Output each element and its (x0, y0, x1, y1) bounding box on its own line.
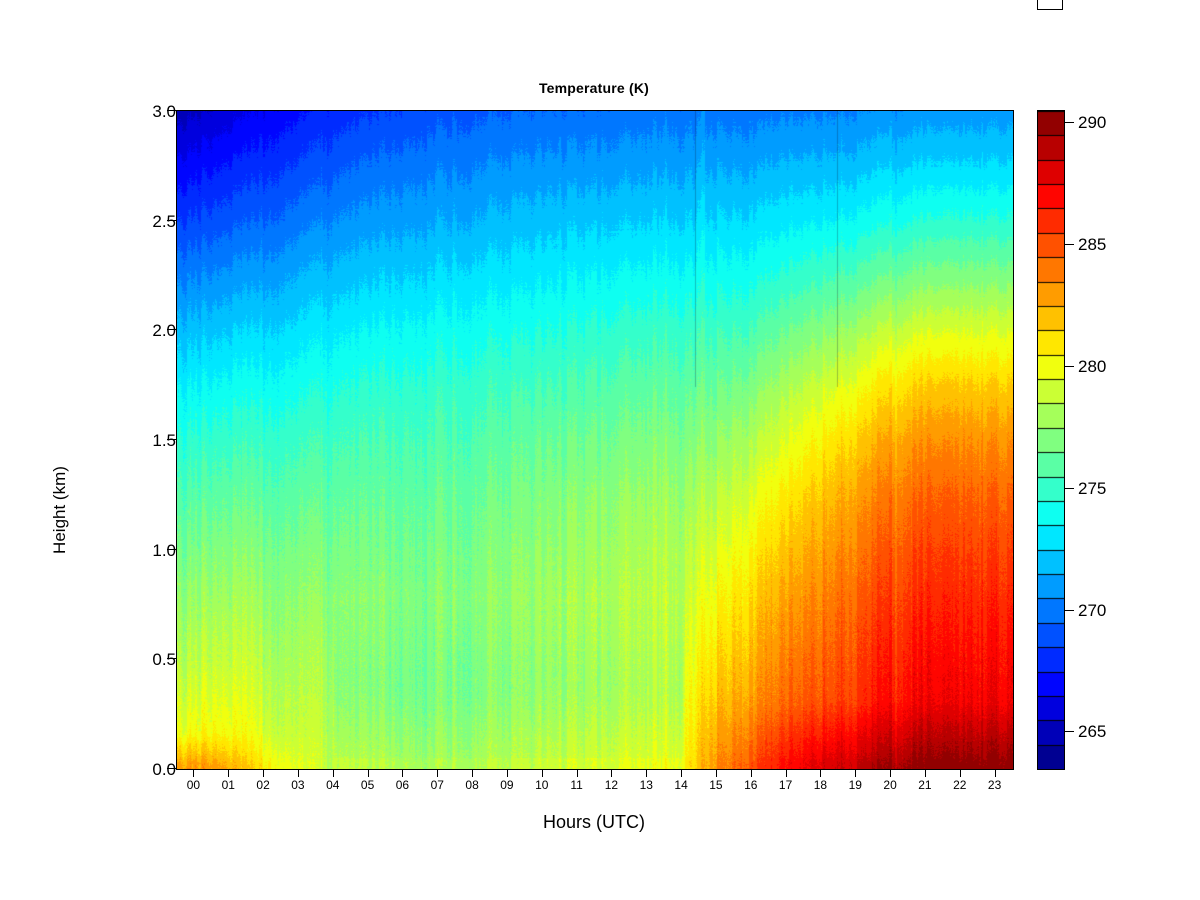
colorbar-tick-mark (1065, 366, 1074, 367)
colorbar-tick-label: 280 (1078, 357, 1148, 375)
y-tick-label: 3.0 (96, 102, 176, 118)
figure-corner-mark (1037, 0, 1063, 10)
colorbar-tick-label: 290 (1078, 113, 1148, 131)
x-tick-mark (925, 769, 926, 777)
y-tick-label: 2.5 (96, 212, 176, 228)
y-tick-mark (167, 329, 176, 330)
x-tick-mark (577, 769, 578, 777)
x-tick-mark (368, 769, 369, 777)
y-axis-title: Height (km) (50, 410, 70, 610)
x-tick-mark (333, 769, 334, 777)
colorbar-tick-label: 275 (1078, 479, 1148, 497)
x-tick-mark (542, 769, 543, 777)
x-tick-mark (995, 769, 996, 777)
x-tick-mark (681, 769, 682, 777)
x-tick-mark (751, 769, 752, 777)
colorbar-tick-mark (1065, 610, 1074, 611)
y-tick-mark (167, 658, 176, 659)
x-tick-mark (820, 769, 821, 777)
x-tick-mark (646, 769, 647, 777)
y-tick-mark (167, 220, 176, 221)
x-tick-mark (611, 769, 612, 777)
y-tick-label: 1.5 (96, 431, 176, 447)
y-tick-mark (167, 768, 176, 769)
colorbar-tick-label: 265 (1078, 722, 1148, 740)
plot-title: Temperature (K) (176, 80, 1012, 96)
colorbar (1037, 110, 1065, 770)
x-tick-mark (263, 769, 264, 777)
x-tick-mark (402, 769, 403, 777)
colorbar-tick-mark (1065, 488, 1074, 489)
x-tick-mark (472, 769, 473, 777)
x-tick-mark (298, 769, 299, 777)
y-tick-mark (167, 549, 176, 550)
x-axis-title: Hours (UTC) (176, 812, 1012, 833)
colorbar-canvas (1038, 111, 1064, 769)
y-tick-mark (167, 439, 176, 440)
colorbar-tick-mark (1065, 731, 1074, 732)
x-tick-mark (193, 769, 194, 777)
x-tick-mark (786, 769, 787, 777)
x-tick-mark (855, 769, 856, 777)
x-tick-mark (507, 769, 508, 777)
y-tick-label: 1.0 (96, 541, 176, 557)
temperature-time-height-figure: Temperature (K) Height (km) Hours (UTC) … (0, 0, 1200, 900)
heatmap-canvas (177, 111, 1013, 769)
y-tick-label: 2.0 (96, 321, 176, 337)
colorbar-tick-mark (1065, 244, 1074, 245)
x-tick-mark (890, 769, 891, 777)
colorbar-tick-label: 270 (1078, 601, 1148, 619)
x-tick-mark (437, 769, 438, 777)
x-tick-mark (716, 769, 717, 777)
y-tick-mark (167, 110, 176, 111)
x-tick-label: 23 (975, 778, 1015, 792)
x-tick-mark (960, 769, 961, 777)
heatmap-plot-area (176, 110, 1014, 770)
y-tick-label: 0.0 (96, 760, 176, 776)
colorbar-tick-label: 285 (1078, 235, 1148, 253)
x-tick-mark (228, 769, 229, 777)
colorbar-tick-mark (1065, 122, 1074, 123)
y-tick-label: 0.5 (96, 650, 176, 666)
